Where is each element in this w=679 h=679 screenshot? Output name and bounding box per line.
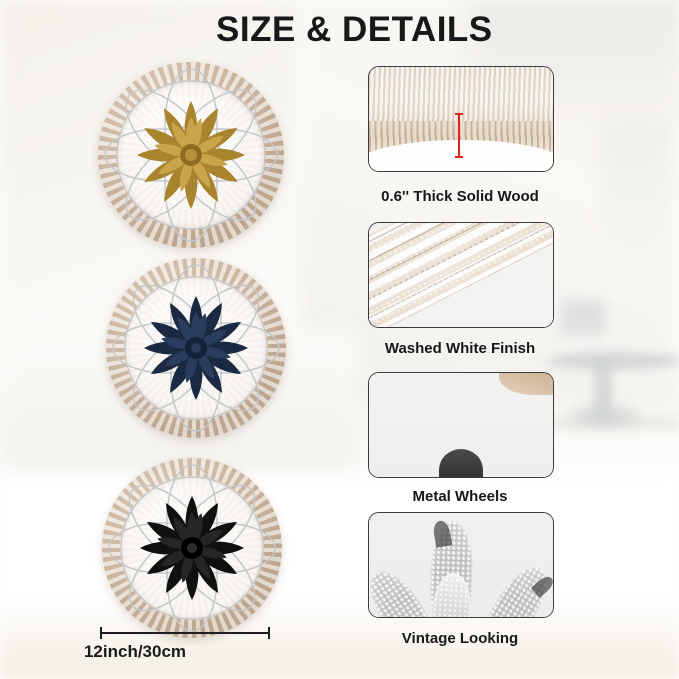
product-wheel-navy <box>106 258 286 438</box>
detail-card-thick-solid-wood <box>368 66 554 172</box>
caption-thick-solid-wood: 0.6'' Thick Solid Wood <box>348 188 572 205</box>
dimension-line <box>100 627 270 639</box>
dimension-rule <box>100 632 270 634</box>
product-wheel-black <box>102 458 282 638</box>
thickness-marker-icon <box>458 113 460 158</box>
wheel-flower-center <box>102 458 282 638</box>
infographic-canvas: SIZE & DETAILS <box>0 0 679 679</box>
background-table-base <box>570 405 640 427</box>
wheel-flower-center <box>98 62 284 248</box>
background-right-object <box>600 120 670 270</box>
wheel-flower-center <box>106 258 286 438</box>
detail-card-washed-white-finish <box>368 222 554 328</box>
detail-card-metal-wheels <box>368 372 554 478</box>
dimension-cap-right <box>268 627 270 639</box>
dimension-label: 12inch/30cm <box>0 642 270 662</box>
page-title: SIZE & DETAILS <box>216 10 493 50</box>
background-chair <box>560 300 606 336</box>
caption-metal-wheels: Metal Wheels <box>348 488 572 505</box>
caption-washed-white-finish: Washed White Finish <box>348 340 572 357</box>
caption-vintage-looking: Vintage Looking <box>348 630 572 647</box>
detail-card-vintage-looking <box>368 512 554 618</box>
product-wheel-gold <box>98 62 284 248</box>
